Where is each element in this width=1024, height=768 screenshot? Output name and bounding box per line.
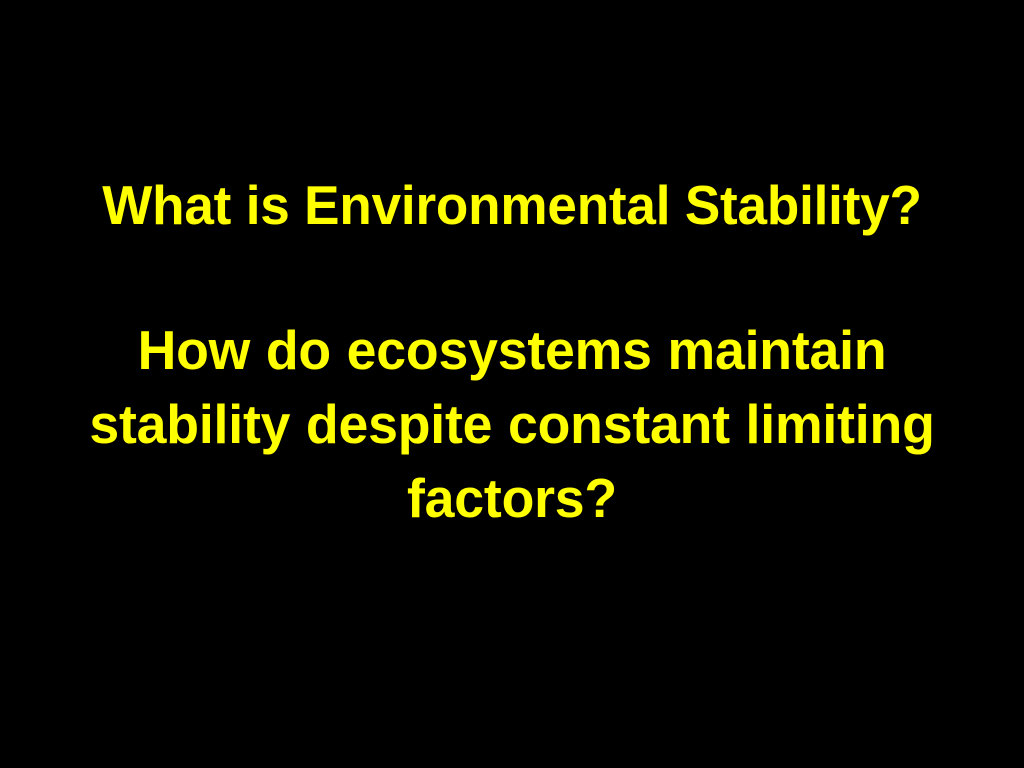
page-title: What is Environmental Stability? [18, 169, 1006, 241]
slide-body-block: How do ecosystems maintain stability des… [62, 313, 962, 535]
presentation-slide: What is Environmental Stability? How do … [0, 0, 1024, 768]
slide-question-text: How do ecosystems maintain stability des… [73, 313, 951, 535]
slide-title-block: What is Environmental Stability? [0, 169, 1024, 241]
